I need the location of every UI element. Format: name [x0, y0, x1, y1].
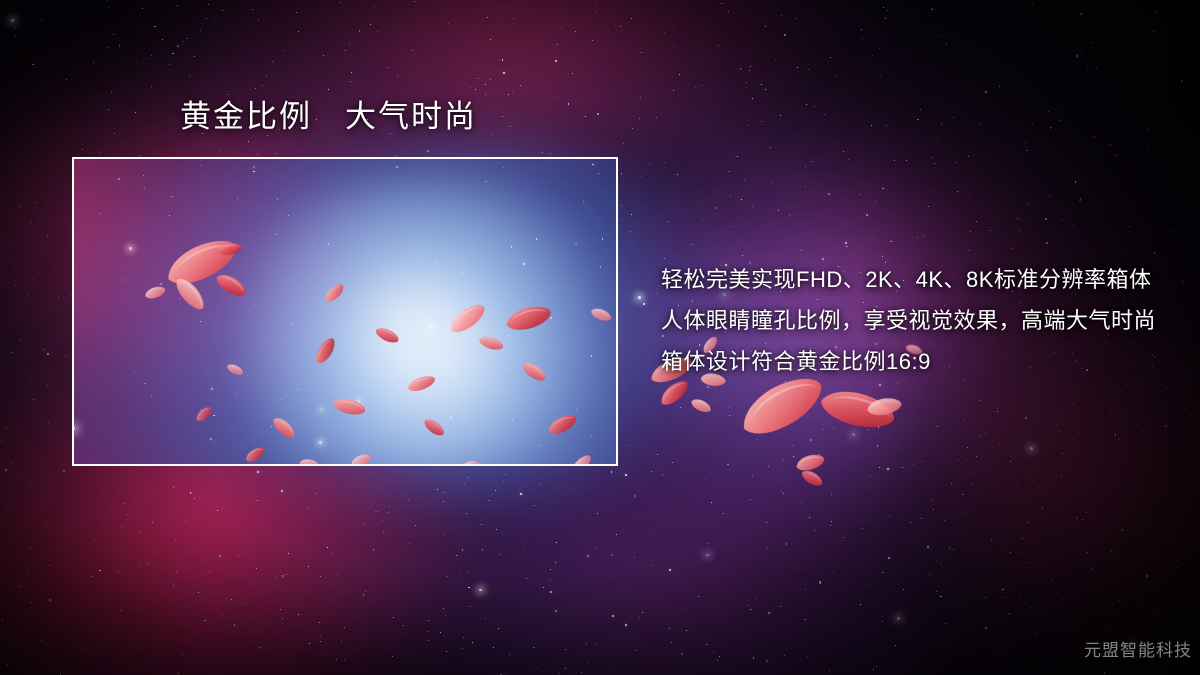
watermark-label: 元盟智能科技 — [1084, 636, 1192, 661]
body-line-1: 轻松完美实现FHD、2K、4K、8K标准分辨率箱体 — [661, 259, 1181, 300]
page-title: 黄金比例 大气时尚 — [180, 99, 477, 135]
body-copy-block: 轻松完美实现FHD、2K、4K、8K标准分辨率箱体 人体眼睛瞳孔比例，享受视觉效… — [661, 259, 1181, 382]
framed-preview-panel — [72, 157, 618, 466]
slide-canvas: 黄金比例 大气时尚 轻松完美实现FHD、2K、4K、8K标准分辨率箱体 人体眼睛… — [0, 0, 1200, 675]
body-line-2: 人体眼睛瞳孔比例，享受视觉效果，高端大气时尚 — [661, 300, 1181, 341]
body-line-3: 箱体设计符合黄金比例16:9 — [661, 341, 1181, 382]
